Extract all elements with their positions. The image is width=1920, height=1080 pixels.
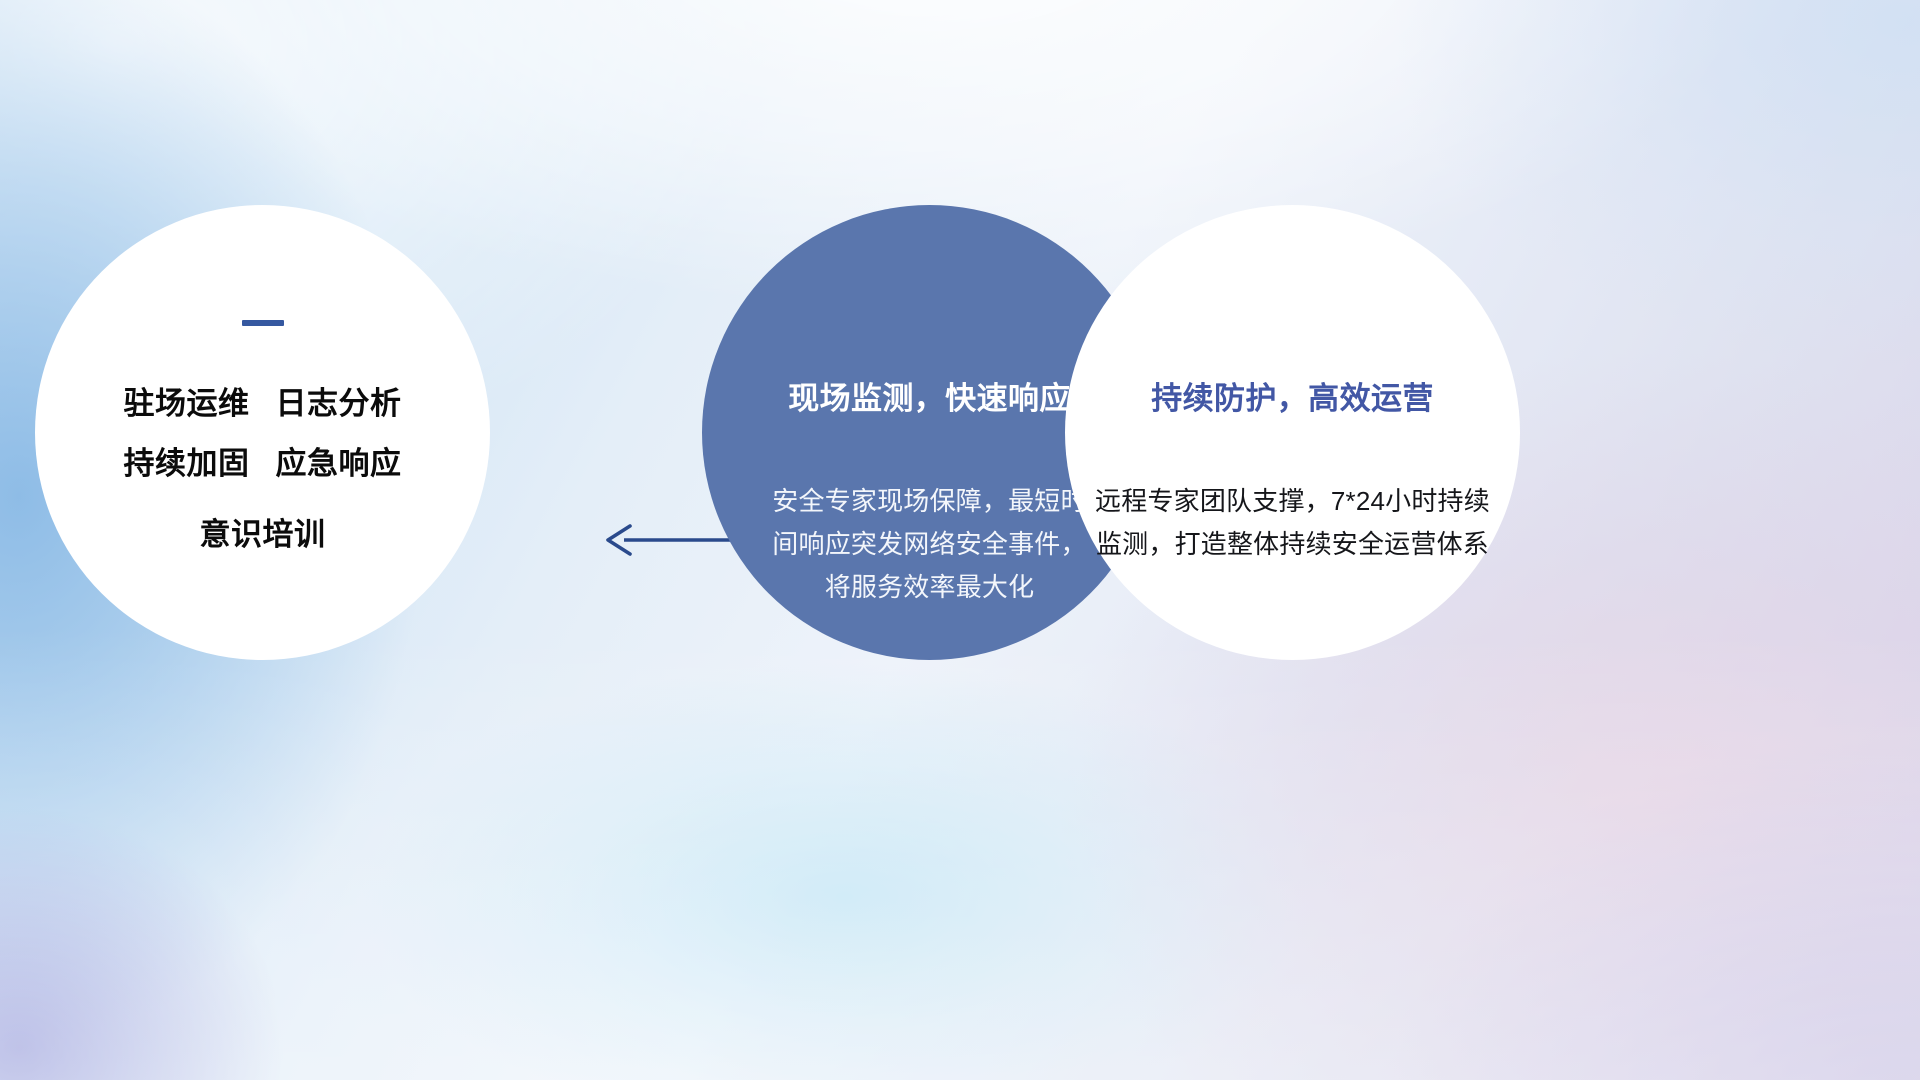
capabilities-row-1: 驻场运维日志分析 — [124, 374, 402, 434]
onsite-title: 现场监测，快速响应 — [788, 373, 1071, 418]
onsite-body: 安全专家现场保障，最短时间响应突发网络安全事件，将服务效率最大化 — [765, 480, 1095, 609]
capability-emergency-response: 应急响应 — [276, 446, 402, 481]
capabilities-row-2: 持续加固应急响应 — [124, 434, 402, 494]
node-capabilities[interactable]: 驻场运维日志分析 持续加固应急响应 意识培训 — [35, 205, 490, 660]
capabilities-row-3: 意识培训 — [124, 505, 402, 565]
slide-canvas: 驻场运维日志分析 持续加固应急响应 意识培训 现场监测，快速响应 安全专家现场保… — [0, 0, 1920, 1080]
capability-onsite-ops: 驻场运维 — [124, 386, 250, 421]
capability-log-analysis: 日志分析 — [276, 386, 402, 421]
capability-awareness-training: 意识培训 — [200, 517, 326, 552]
continuous-body: 远程专家团队支撑，7*24小时持续监测，打造整体持续安全运营体系 — [1093, 480, 1493, 566]
continuous-title: 持续防护，高效运营 — [1151, 373, 1434, 418]
divider-dash-icon — [242, 320, 284, 326]
node-continuous-protection[interactable]: 持续防护，高效运营 远程专家团队支撑，7*24小时持续监测，打造整体持续安全运营… — [1065, 205, 1520, 660]
capability-continuous-hardening: 持续加固 — [124, 446, 250, 481]
capabilities-list: 驻场运维日志分析 持续加固应急响应 意识培训 — [124, 374, 402, 565]
